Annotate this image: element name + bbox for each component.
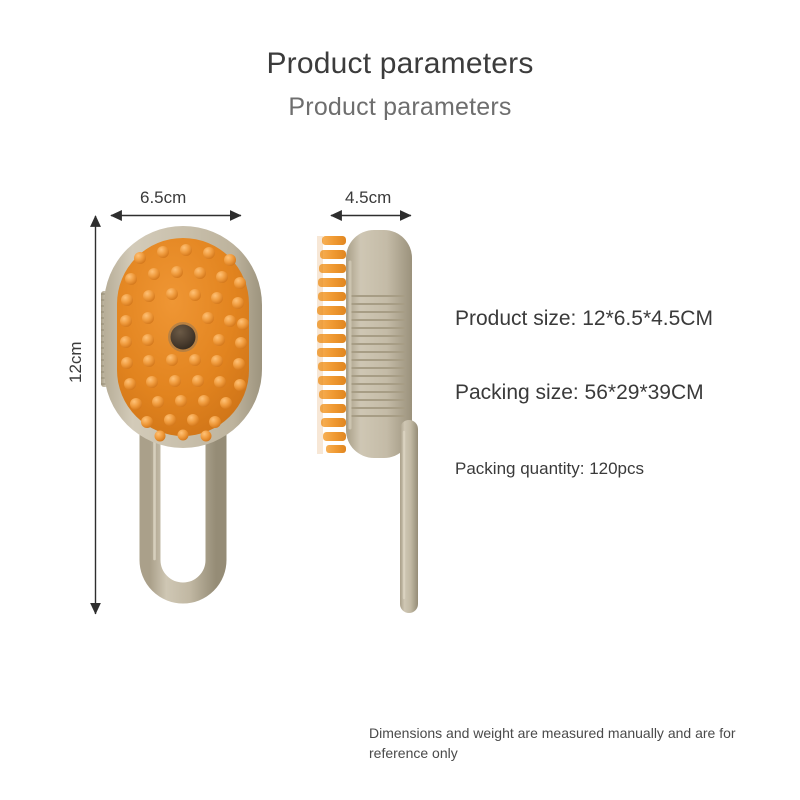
- steam-nozzle-hole: [171, 325, 196, 350]
- bristle-shadow: [317, 236, 323, 454]
- product-side-view: [317, 230, 418, 613]
- product-parameters-page: Product parameters Product parameters: [0, 0, 800, 800]
- side-handle: [400, 420, 418, 613]
- dimension-label-side-width: 4.5cm: [345, 188, 391, 208]
- spec-packing-size: Packing size: 56*29*39CM: [455, 381, 704, 405]
- product-front-view: [101, 226, 262, 593]
- spec-packing-quantity: Packing quantity: 120pcs: [455, 459, 644, 479]
- dimension-label-head-width: 6.5cm: [140, 188, 186, 208]
- spec-product-size: Product size: 12*6.5*4.5CM: [455, 307, 713, 331]
- dimension-label-total-height: 12cm: [66, 341, 86, 383]
- loop-handle: [150, 430, 216, 593]
- disclaimer-text: Dimensions and weight are measured manua…: [369, 723, 769, 763]
